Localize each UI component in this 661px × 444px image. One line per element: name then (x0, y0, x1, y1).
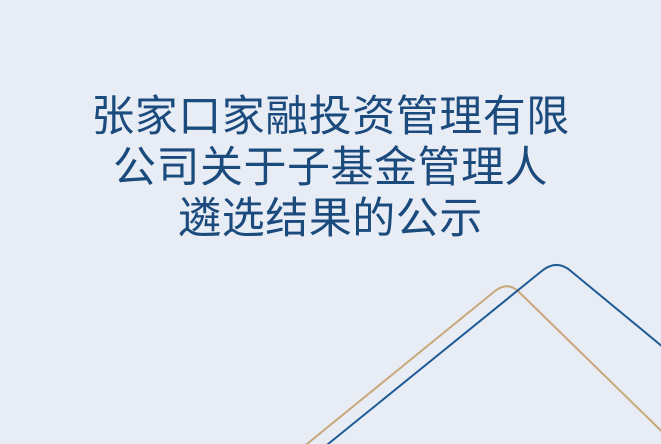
tan-peak-icon (275, 286, 661, 444)
blue-peak-icon (296, 265, 661, 444)
page-title-line-2: 公司关于子基金管理人 (0, 143, 661, 194)
page-title-line-3: 遴选结果的公示 (0, 194, 661, 245)
announcement-card: 张家口家融投资管理有限 公司关于子基金管理人 遴选结果的公示 (0, 0, 661, 444)
page-title: 张家口家融投资管理有限 公司关于子基金管理人 遴选结果的公示 (0, 92, 661, 245)
page-title-line-1: 张家口家融投资管理有限 (0, 92, 661, 143)
